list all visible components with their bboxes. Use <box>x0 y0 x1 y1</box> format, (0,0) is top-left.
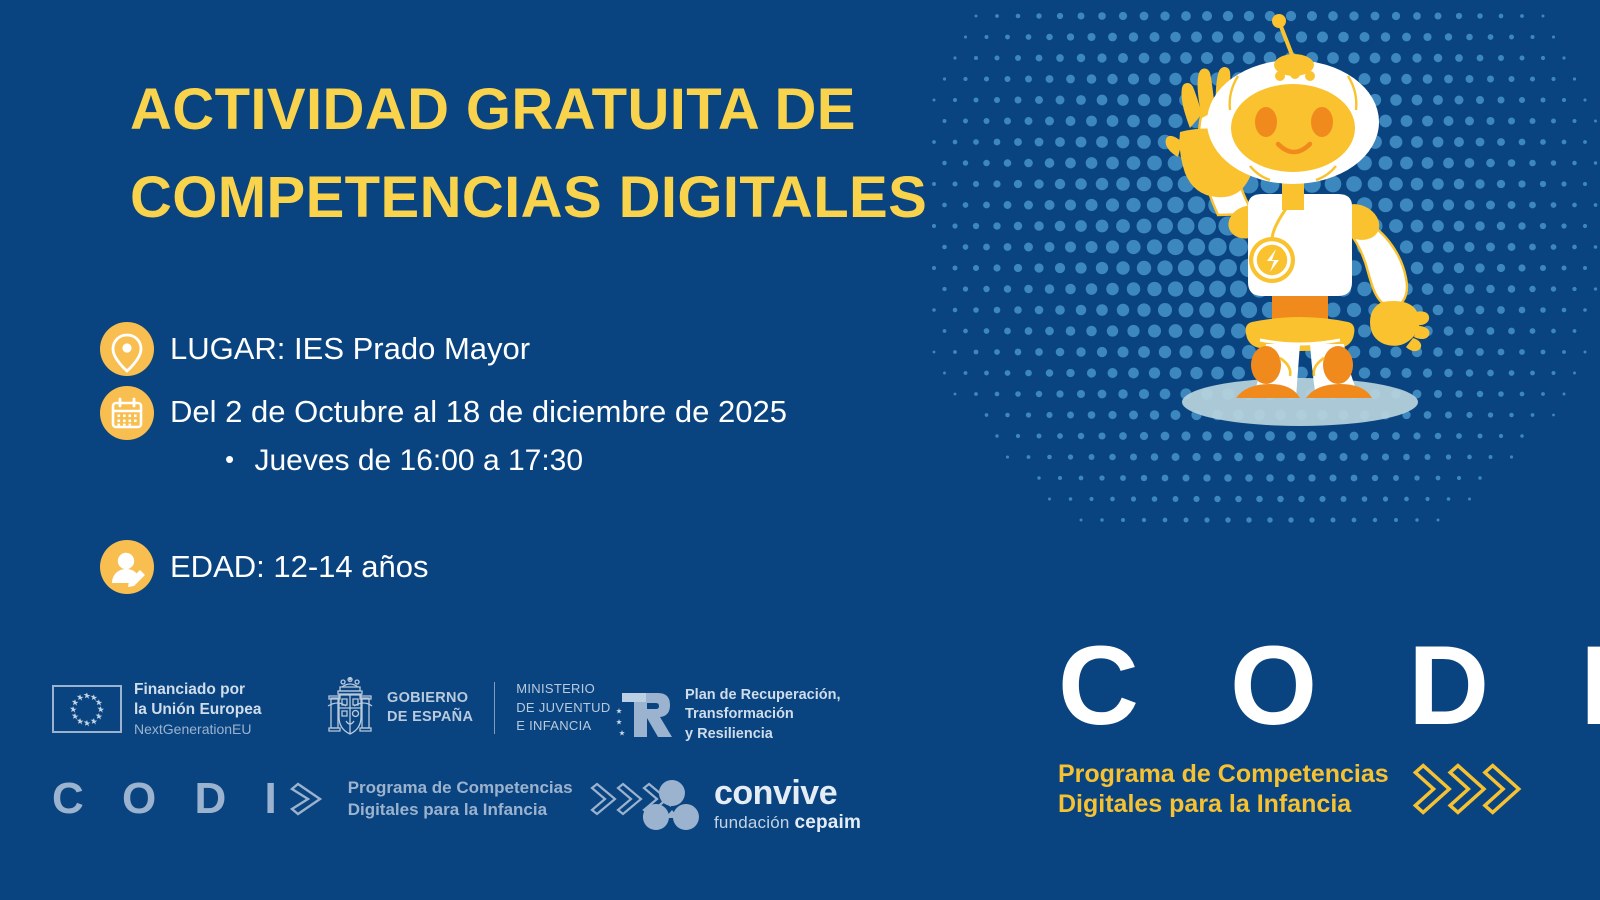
triple-chevron-right-icon <box>1411 754 1528 824</box>
page-title-line-2: COMPETENCIAS DIGITALES <box>130 154 960 242</box>
chevron-right-outline-icon <box>286 776 332 822</box>
codi-footer-tag-line-1: Programa de Competencias <box>348 777 573 799</box>
person-edit-icon <box>100 540 154 594</box>
calendar-icon <box>100 386 154 440</box>
detail-row-place: LUGAR: IES Prado Mayor <box>100 322 960 376</box>
gobierno-line-1: GOBIERNO <box>387 689 473 708</box>
ministerio-line-1: MINISTERIO <box>516 680 610 698</box>
prtr-text: Plan de Recuperación, Transformación y R… <box>685 686 841 744</box>
eu-line-1: Financiado por <box>134 680 261 700</box>
convive-cepaim-logo: convive fundación cepaim <box>642 776 861 832</box>
codi-footer-logo: C O D I Programa de Competencias Digital… <box>52 776 689 822</box>
convive-subname-bold: cepaim <box>794 812 861 833</box>
ministerio-line-3: E INFANCIA <box>516 717 610 735</box>
detail-schedule: • Jueves de 16:00 a 17:30 <box>225 442 960 480</box>
detail-dates-text: Del 2 de Octubre al 18 de diciembre de 2… <box>170 386 787 438</box>
codi-main-tag-line-1: Programa de Competencias <box>1058 759 1389 790</box>
eu-flag-icon <box>52 685 122 733</box>
detail-row-dates: Del 2 de Octubre al 18 de diciembre de 2… <box>100 386 960 440</box>
convive-subname-prefix: fundación <box>714 813 794 832</box>
page-title-line-1: ACTIVIDAD GRATUITA DE <box>130 77 856 142</box>
eu-line-3: NextGenerationEU <box>134 720 261 738</box>
prtr-line-3: y Resiliencia <box>685 725 841 744</box>
bullet-glyph: • <box>225 444 234 474</box>
codi-main-letters: C O D I <box>1058 630 1600 742</box>
convive-name: convive <box>714 776 861 810</box>
convive-text: convive fundación cepaim <box>714 776 861 832</box>
detail-age-text: EDAD: 12-14 años <box>170 540 428 594</box>
prtr-r-icon <box>614 687 676 743</box>
poster-canvas: ACTIVIDAD GRATUITA DE COMPETENCIAS DIGIT… <box>0 0 1600 900</box>
eu-line-2: la Unión Europea <box>134 700 261 720</box>
codi-footer-tagline: Programa de Competencias Digitales para … <box>348 777 573 821</box>
codi-main-tag-line-2: Digitales para la Infancia <box>1058 789 1389 820</box>
page-title: ACTIVIDAD GRATUITA DE COMPETENCIAS DIGIT… <box>130 66 960 242</box>
ministerio-line-2: DE JUVENTUD <box>516 699 610 717</box>
gobierno-text: GOBIERNO DE ESPAÑA <box>387 689 473 727</box>
waving-robot-illustration <box>1130 10 1450 430</box>
codi-footer-tag-line-2: Digitales para la Infancia <box>348 799 573 821</box>
detail-row-age: EDAD: 12-14 años <box>100 540 960 594</box>
location-pin-icon <box>100 322 154 376</box>
gobierno-espana-logo: GOBIERNO DE ESPAÑA MINISTERIO DE JUVENTU… <box>324 676 611 740</box>
ministerio-text: MINISTERIO DE JUVENTUD E INFANCIA <box>516 680 610 735</box>
eu-funding-text: Financiado por la Unión Europea NextGene… <box>134 680 261 738</box>
prtr-logo: Plan de Recuperación, Transformación y R… <box>614 686 841 744</box>
convive-subname: fundación cepaim <box>714 813 861 832</box>
codi-main-tagline: Programa de Competencias Digitales para … <box>1058 759 1389 820</box>
detail-schedule-text: Jueves de 16:00 a 17:30 <box>254 444 583 477</box>
logo-divider <box>494 682 495 734</box>
detail-place-text: LUGAR: IES Prado Mayor <box>170 322 530 376</box>
prtr-line-1: Plan de Recuperación, <box>685 686 841 705</box>
eu-funding-logo: Financiado por la Unión Europea NextGene… <box>52 680 261 738</box>
codi-main-logo: C O D I Programa de Competencias Digital… <box>1058 630 1528 835</box>
prtr-line-2: Transformación <box>685 705 841 724</box>
codi-footer-wordmark: C O D I <box>52 777 290 821</box>
codi-main-tagline-row: Programa de Competencias Digitales para … <box>1058 754 1528 824</box>
spain-coat-of-arms-icon <box>324 676 376 740</box>
codi-main-wordmark-row: C O D I <box>1058 630 1528 742</box>
footer-logo-strip: Financiado por la Unión Europea NextGene… <box>52 672 912 852</box>
convive-three-circles-icon <box>642 776 702 832</box>
event-details: LUGAR: IES Prado Mayor <box>100 322 960 604</box>
gobierno-line-2: DE ESPAÑA <box>387 708 473 727</box>
